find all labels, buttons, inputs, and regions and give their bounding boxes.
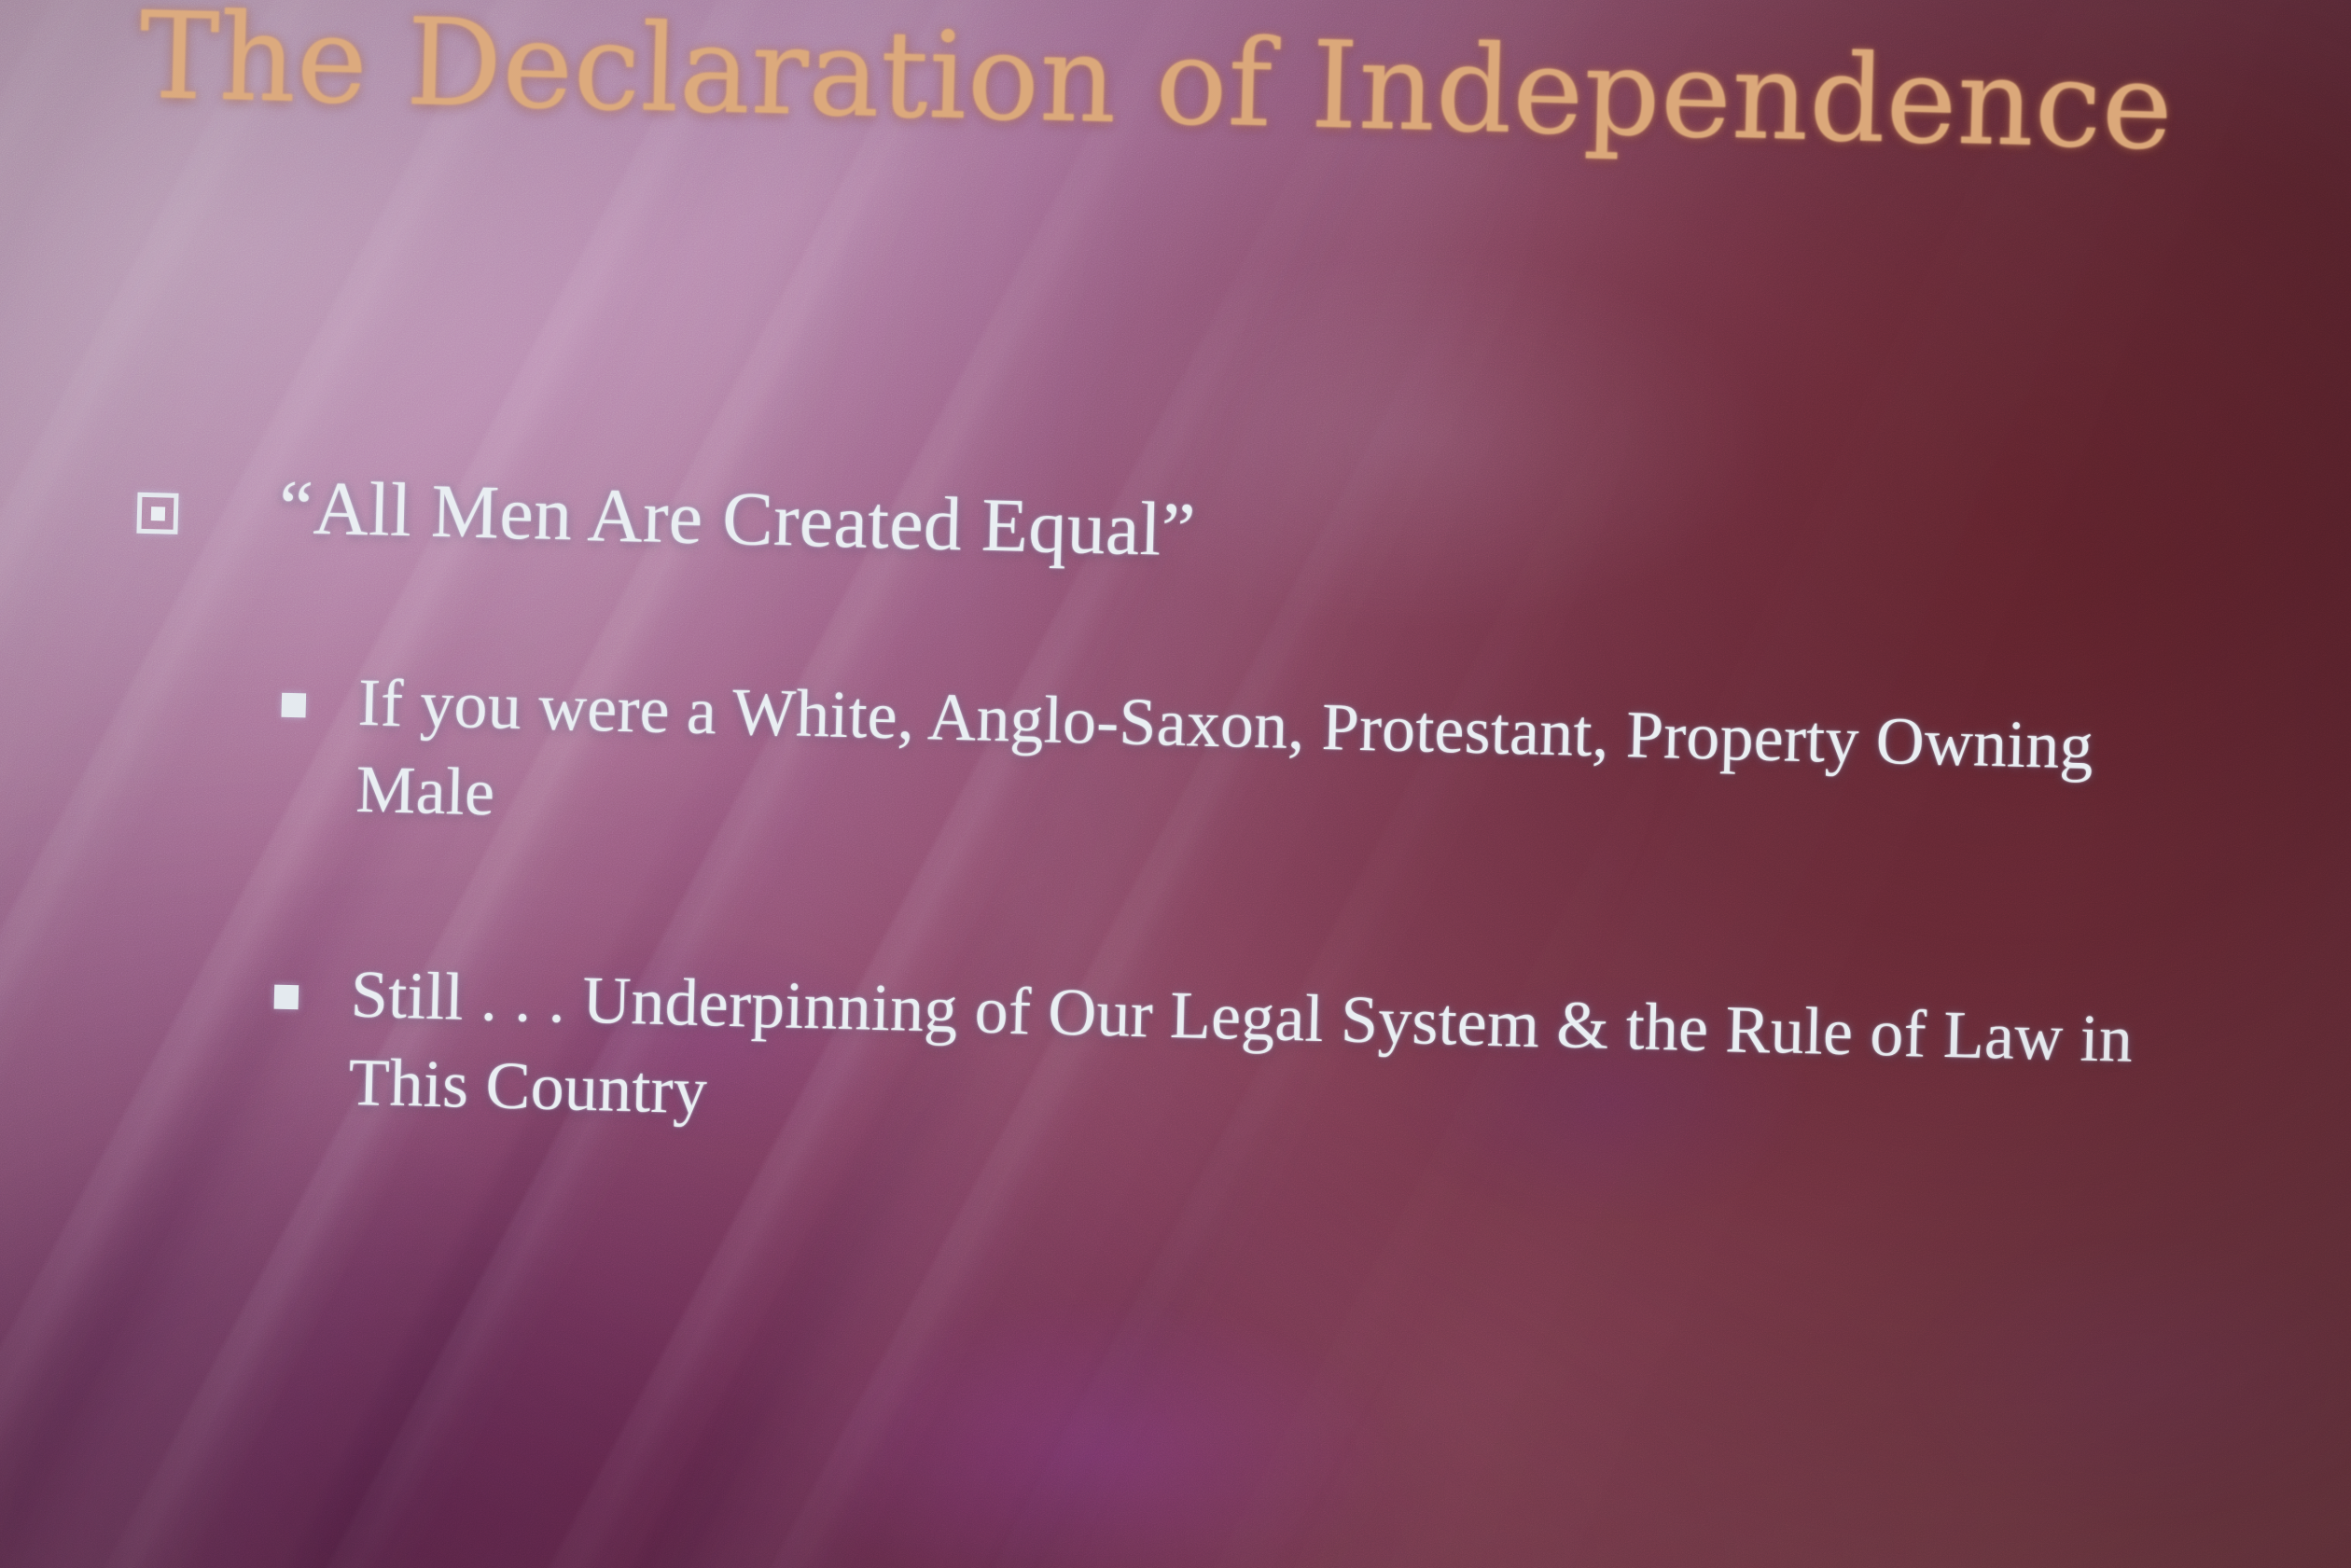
- slide-title: The Declaration of Independence: [138, 0, 2324, 173]
- bullet-text: “All Men Are Created Equal”: [278, 463, 1197, 576]
- projected-slide-photo: The Declaration of Independence “All Men…: [0, 0, 2351, 1568]
- bullet-item-level-2: If you were a White, Anglo-Saxon, Protes…: [0, 650, 2351, 884]
- bullet-text: Still . . . Underpinning of Our Legal Sy…: [347, 951, 2198, 1173]
- bullet-item-level-2: Still . . . Underpinning of Our Legal Sy…: [0, 942, 2345, 1176]
- bullet-inner-dot: [150, 506, 164, 520]
- square-outline-with-dot-bullet-icon: [136, 493, 178, 534]
- bullet-text: If you were a White, Anglo-Saxon, Protes…: [355, 659, 2205, 881]
- bullet-item-level-1: “All Men Are Created Equal”: [6, 455, 2351, 604]
- filled-square-bullet-icon: [282, 692, 307, 717]
- bullet-list: “All Men Are Created Equal” If you were …: [0, 455, 2351, 1294]
- filled-square-bullet-icon: [274, 985, 299, 1010]
- slide-content: The Declaration of Independence “All Men…: [0, 0, 2351, 1568]
